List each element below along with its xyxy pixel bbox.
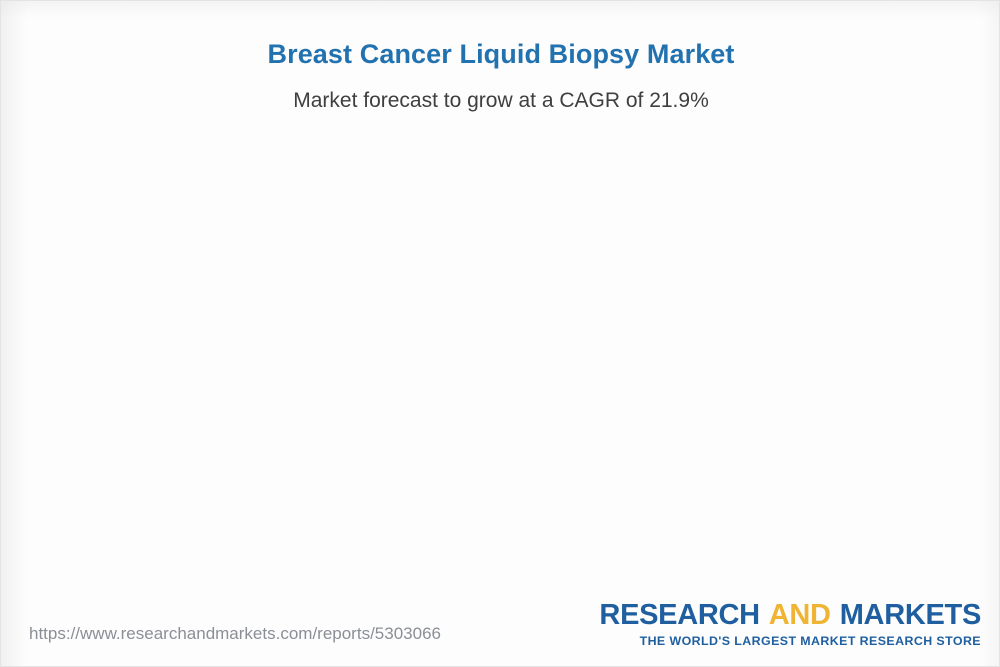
chart-canvas: Breast Cancer Liquid Biopsy Market Marke… <box>0 0 1000 667</box>
source-url[interactable]: https://www.researchandmarkets.com/repor… <box>29 624 441 644</box>
logo-tagline: THE WORLD'S LARGEST MARKET RESEARCH STOR… <box>599 634 981 648</box>
plot-area: USD 330.8 Million 2024 USD 1,100 Million <box>1 1 1000 601</box>
logo-word-research: RESEARCH <box>599 599 759 631</box>
logo-wordmark: RESEARCHANDMARKETS <box>599 601 981 630</box>
brand-logo: RESEARCHANDMARKETS THE WORLD'S LARGEST M… <box>599 601 981 648</box>
logo-word-and: AND <box>769 599 831 631</box>
logo-word-markets: MARKETS <box>840 599 981 631</box>
